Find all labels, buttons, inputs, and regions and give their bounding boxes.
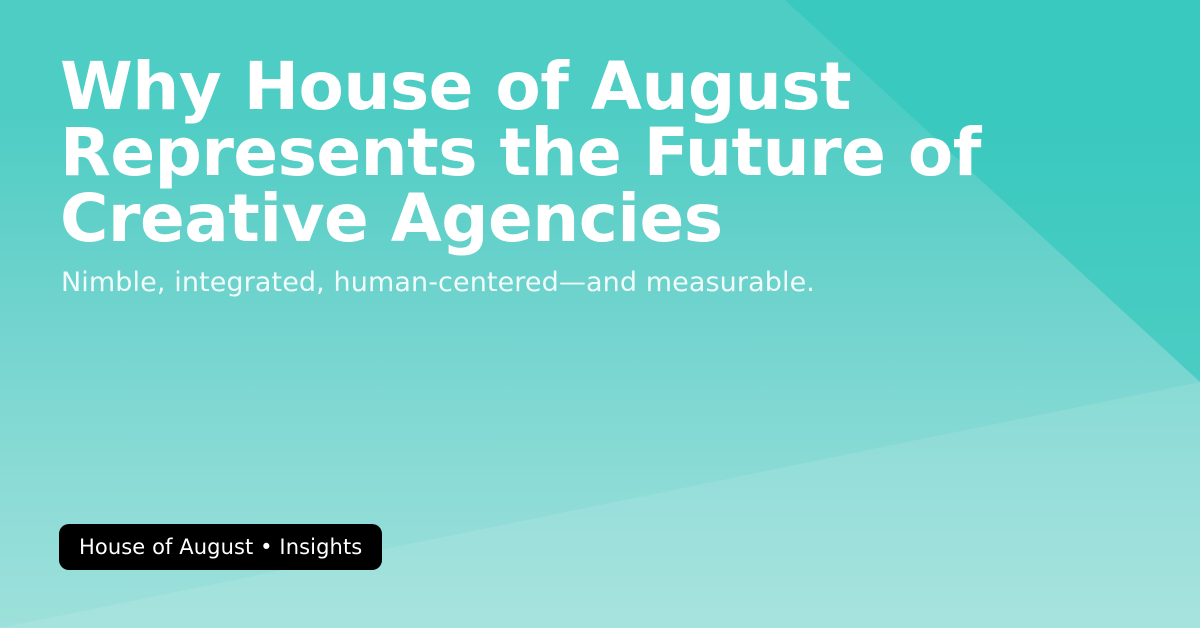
banner-content: Why House of August Represents the Futur… — [60, 0, 1140, 628]
headline-line-1: Why House of August — [60, 54, 980, 120]
page-subtitle: Nimble, integrated, human-centered—and m… — [61, 266, 815, 300]
brand-badge: House of August • Insights — [59, 524, 382, 570]
headline-line-3: Creative Agencies — [60, 186, 980, 252]
headline-line-2: Represents the Future of — [60, 120, 980, 186]
page-title: Why House of August Represents the Futur… — [60, 54, 980, 252]
insights-banner: Why House of August Represents the Futur… — [0, 0, 1200, 628]
